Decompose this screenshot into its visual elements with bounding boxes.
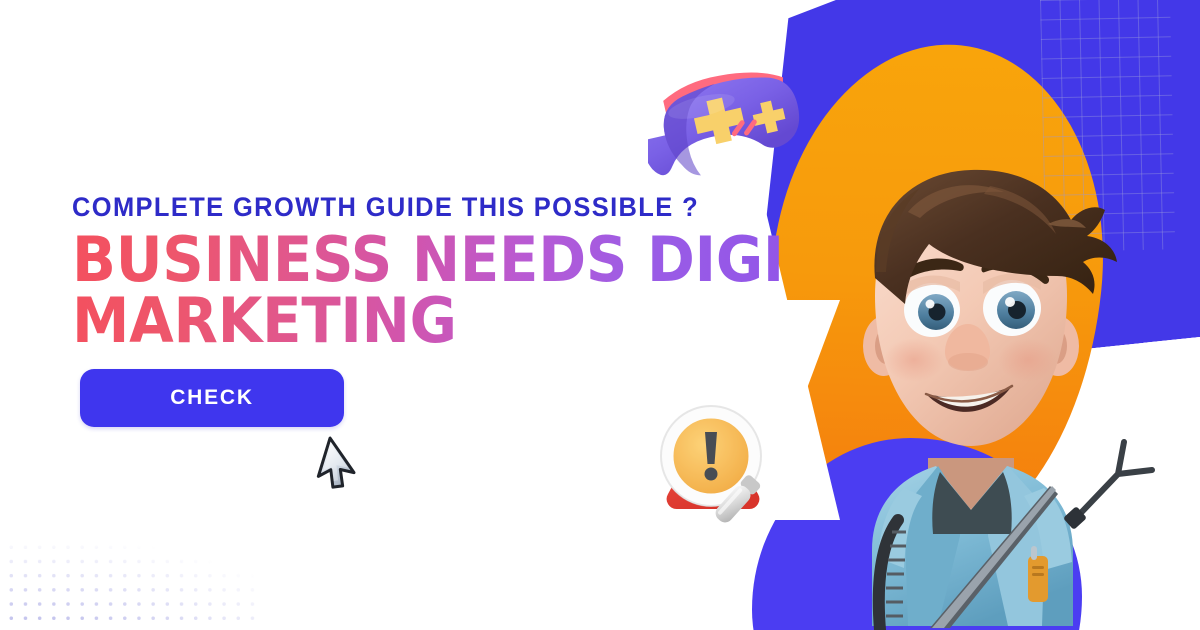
dot-pattern-decoration <box>0 526 260 630</box>
marketing-banner: COMPLETE GROWTH GUIDE THIS POSSIBLE ? BU… <box>0 0 1200 630</box>
headline-line-2: MARKETING <box>72 291 779 352</box>
page-title: BUSINESS NEEDS DIGITAL MARKETING <box>72 230 779 352</box>
magnifier-warning-icon <box>658 404 808 528</box>
gamepad-icon <box>648 62 818 202</box>
text-content-block: COMPLETE GROWTH GUIDE THIS POSSIBLE ? BU… <box>72 193 832 352</box>
boy-character-illustration <box>780 128 1180 630</box>
mouse-cursor-icon <box>308 436 370 498</box>
check-button-label: CHECK <box>170 386 254 410</box>
headline-line-1: BUSINESS NEEDS DIGITAL <box>72 230 779 291</box>
check-button[interactable]: CHECK <box>80 369 344 427</box>
